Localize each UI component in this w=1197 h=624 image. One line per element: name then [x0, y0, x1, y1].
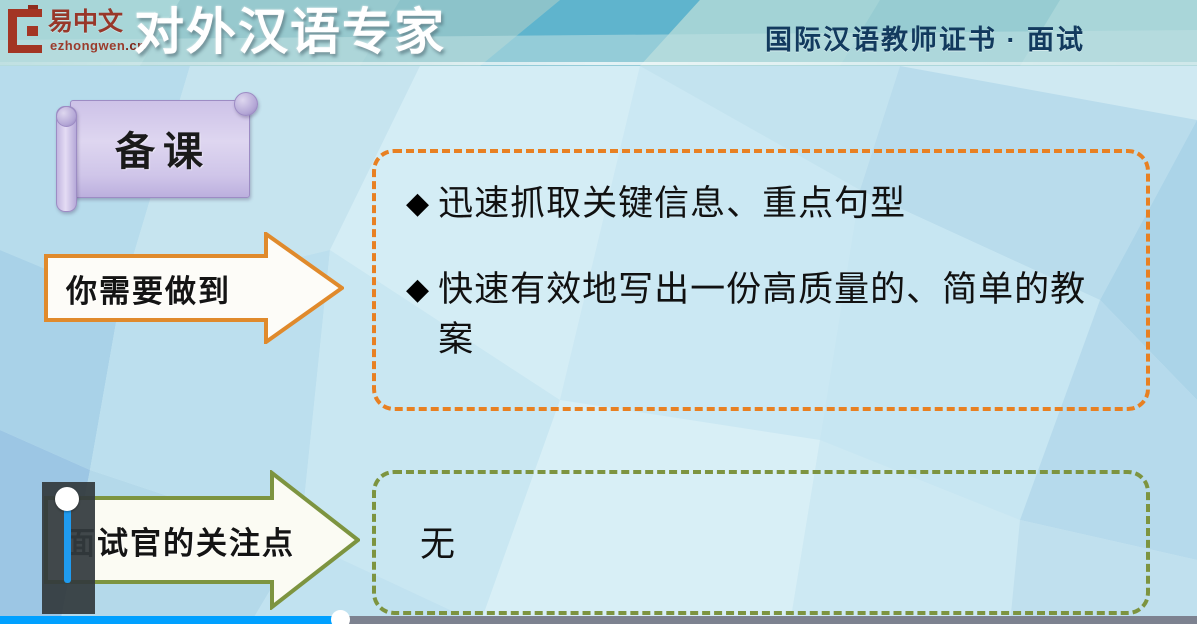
bullet-item: ◆ 快速有效地写出一份高质量的、简单的教案	[406, 265, 1116, 365]
scroll-banner: 备课	[52, 92, 256, 210]
content-box-focus-text: 无	[406, 500, 1116, 570]
video-progress-track[interactable]	[0, 616, 1197, 624]
brand-title: 对外汉语专家	[134, 0, 446, 65]
logo-url: ezhongwen.cn	[50, 38, 146, 53]
content-box-focus: 无	[372, 470, 1150, 615]
page-header: 易中文 ezhongwen.cn 对外汉语专家 国际汉语教师证书 · 面试	[0, 0, 1197, 66]
arrow-need-to-do: 你需要做到	[44, 232, 344, 344]
course-title: 国际汉语教师证书 · 面试	[765, 18, 1085, 57]
video-progress-knob[interactable]	[331, 610, 350, 624]
diamond-bullet-icon: ◆	[406, 265, 430, 315]
content-box-focus-inner: 无	[376, 474, 1146, 611]
logo-mark-icon	[8, 9, 46, 53]
bullet-item: ◆ 迅速抓取关键信息、重点句型	[406, 179, 1116, 229]
header-divider	[0, 62, 1197, 65]
arrow-need-to-do-label: 你需要做到	[44, 232, 231, 344]
site-logo[interactable]: 易中文 ezhongwen.cn	[6, 7, 138, 57]
video-progress-fill	[0, 616, 340, 624]
logo-chinese-name: 易中文	[48, 8, 123, 36]
content-box-requirements: ◆ 迅速抓取关键信息、重点句型 ◆ 快速有效地写出一份高质量的、简单的教案	[372, 149, 1150, 411]
slide-video-player: 易中文 ezhongwen.cn 对外汉语专家 国际汉语教师证书 · 面试 备课…	[0, 0, 1197, 624]
bullet-text: 快速有效地写出一份高质量的、简单的教案	[438, 265, 1116, 365]
content-box-requirements-inner: ◆ 迅速抓取关键信息、重点句型 ◆ 快速有效地写出一份高质量的、简单的教案	[376, 153, 1146, 407]
diamond-bullet-icon: ◆	[406, 179, 430, 229]
logo-url-main: ezhongwen	[50, 38, 125, 53]
scroll-banner-label: 备课	[70, 100, 248, 196]
bullet-text: 迅速抓取关键信息、重点句型	[438, 179, 1116, 229]
volume-slider-knob[interactable]	[55, 487, 79, 511]
